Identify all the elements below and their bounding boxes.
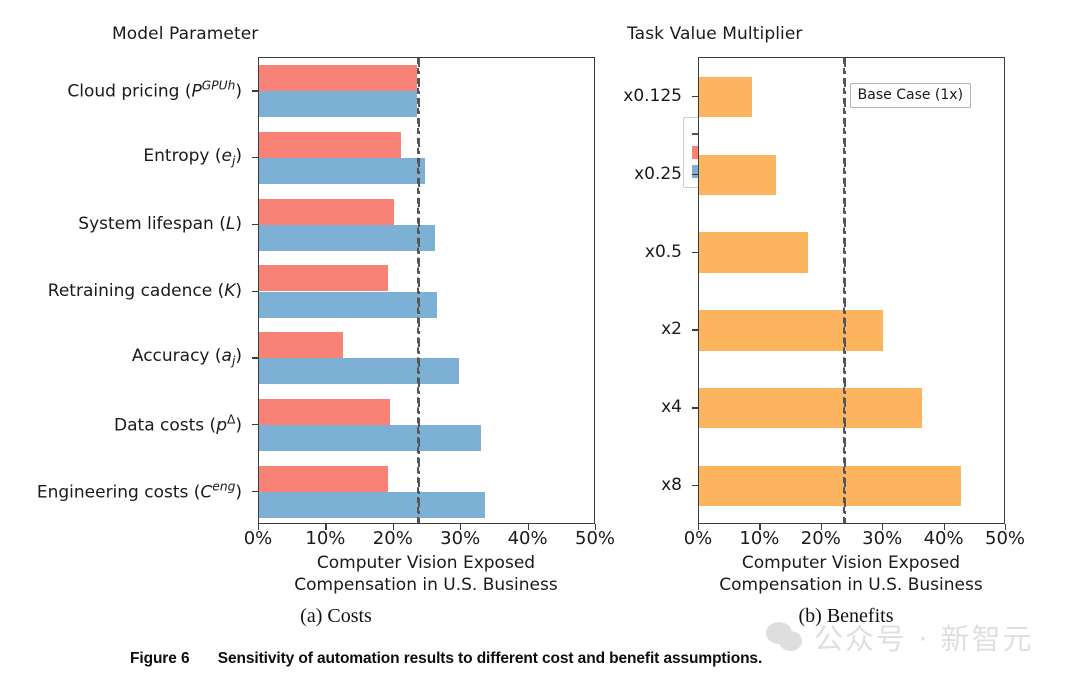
- y-tick-mark: [692, 485, 698, 486]
- y-tick-mark: [252, 491, 258, 492]
- costs-bars-layer: [259, 58, 594, 523]
- y-tick-label-costs: Cloud pricing (PGPUh): [0, 79, 250, 102]
- benefits-plot-area: [698, 57, 1005, 524]
- y-tick-label-costs: Engineering costs (Ceng): [0, 479, 250, 502]
- y-tick-label-benefits: x4: [600, 397, 690, 417]
- x-tick-label-costs: 30%: [440, 528, 480, 549]
- benefits-bars-layer: [699, 58, 1004, 523]
- y-tick-label-costs: Retraining cadence (K): [0, 281, 250, 301]
- y-tick-label-benefits: x0.25: [600, 164, 690, 184]
- x-tick-label-costs: 20%: [373, 528, 413, 549]
- y-tick-label-benefits: x0.5: [600, 242, 690, 262]
- y-tick-mark: [692, 96, 698, 97]
- right-y-tick-labels: x0.125x0.25x0.5x2x4x8: [600, 0, 690, 688]
- base-case-annotation: Base Case (1x): [850, 83, 971, 108]
- y-tick-label-costs: Accuracy (aj): [0, 346, 250, 368]
- bar-low-cost: [259, 292, 437, 318]
- x-tick-mark: [944, 524, 945, 530]
- y-tick-mark: [252, 291, 258, 292]
- y-tick-mark: [692, 174, 698, 175]
- y-tick-mark: [252, 90, 258, 91]
- x-tick-mark: [258, 524, 259, 530]
- costs-plot-area: Base Assumptions High Cost Low Cost: [258, 57, 595, 524]
- figure-caption: Figure 6 Sensitivity of automation resul…: [130, 650, 762, 668]
- y-tick-label-costs: System lifespan (L): [0, 214, 250, 234]
- left-x-axis-label-line2: Compensation in U.S. Business: [294, 574, 557, 596]
- x-tick-mark: [759, 524, 760, 530]
- left-y-tick-labels: Cloud pricing (PGPUh)Entropy (ej)System …: [0, 0, 250, 688]
- x-tick-mark: [393, 524, 394, 530]
- x-tick-label-costs: 40%: [508, 528, 548, 549]
- y-tick-label-costs: Entropy (ej): [0, 146, 250, 168]
- bar-benefit-x2: [699, 310, 883, 350]
- bar-high-cost: [259, 132, 401, 158]
- right-x-axis-label-line1: Computer Vision Exposed: [719, 552, 982, 574]
- x-tick-label-benefits: 20%: [801, 528, 841, 549]
- figure-caption-text: Sensitivity of automation results to dif…: [218, 650, 762, 667]
- bar-low-cost: [259, 91, 417, 117]
- bar-high-cost: [259, 466, 388, 492]
- x-tick-label-benefits: 40%: [924, 528, 964, 549]
- y-tick-mark: [252, 357, 258, 358]
- y-tick-label-benefits: x0.125: [600, 86, 690, 106]
- y-tick-mark: [692, 252, 698, 253]
- bar-benefit-x0.5: [699, 232, 808, 272]
- x-tick-mark: [460, 524, 461, 530]
- bar-high-cost: [259, 399, 390, 425]
- figure-number: Figure 6: [130, 650, 190, 667]
- subcaption-a: (a) Costs: [300, 605, 372, 628]
- bar-low-cost: [259, 225, 435, 251]
- y-tick-label-benefits: x2: [600, 319, 690, 339]
- right-x-axis-label-line2: Compensation in U.S. Business: [719, 574, 982, 596]
- left-x-axis-label: Computer Vision Exposed Compensation in …: [294, 552, 557, 596]
- bar-high-cost: [259, 65, 417, 91]
- bar-benefit-x4: [699, 388, 922, 428]
- y-tick-label-costs: Data costs (pΔ): [0, 413, 250, 436]
- y-tick-mark: [692, 329, 698, 330]
- x-tick-mark: [528, 524, 529, 530]
- y-tick-mark: [252, 224, 258, 225]
- y-tick-mark: [692, 407, 698, 408]
- x-tick-label-costs: 0%: [244, 528, 273, 549]
- y-tick-mark: [252, 157, 258, 158]
- x-tick-mark: [595, 524, 596, 530]
- right-x-axis-label: Computer Vision Exposed Compensation in …: [719, 552, 982, 596]
- bar-low-cost: [259, 425, 481, 451]
- x-tick-label-benefits: 30%: [862, 528, 902, 549]
- bar-high-cost: [259, 332, 343, 358]
- bar-high-cost: [259, 199, 394, 225]
- x-tick-mark: [325, 524, 326, 530]
- bar-low-cost: [259, 358, 459, 384]
- y-tick-label-benefits: x8: [600, 475, 690, 495]
- x-tick-mark: [821, 524, 822, 530]
- x-tick-label-benefits: 0%: [684, 528, 713, 549]
- y-tick-mark: [252, 424, 258, 425]
- x-tick-label-benefits: 50%: [985, 528, 1025, 549]
- x-tick-label-costs: 10%: [305, 528, 345, 549]
- x-tick-label-benefits: 10%: [739, 528, 779, 549]
- bar-low-cost: [259, 158, 425, 184]
- base-assumptions-line: [417, 58, 419, 523]
- left-x-axis-label-line1: Computer Vision Exposed: [294, 552, 557, 574]
- x-tick-mark: [698, 524, 699, 530]
- x-tick-mark: [882, 524, 883, 530]
- x-tick-mark: [1005, 524, 1006, 530]
- bar-high-cost: [259, 265, 388, 291]
- base-case-line: [843, 58, 845, 523]
- figure-6-root: Model Parameter Cloud pricing (PGPUh)Ent…: [0, 0, 1080, 688]
- bar-benefit-x8: [699, 466, 961, 506]
- bar-benefit-x0.125: [699, 77, 752, 117]
- bar-benefit-x0.25: [699, 155, 776, 195]
- subcaption-b: (b) Benefits: [799, 605, 894, 628]
- bar-low-cost: [259, 492, 485, 518]
